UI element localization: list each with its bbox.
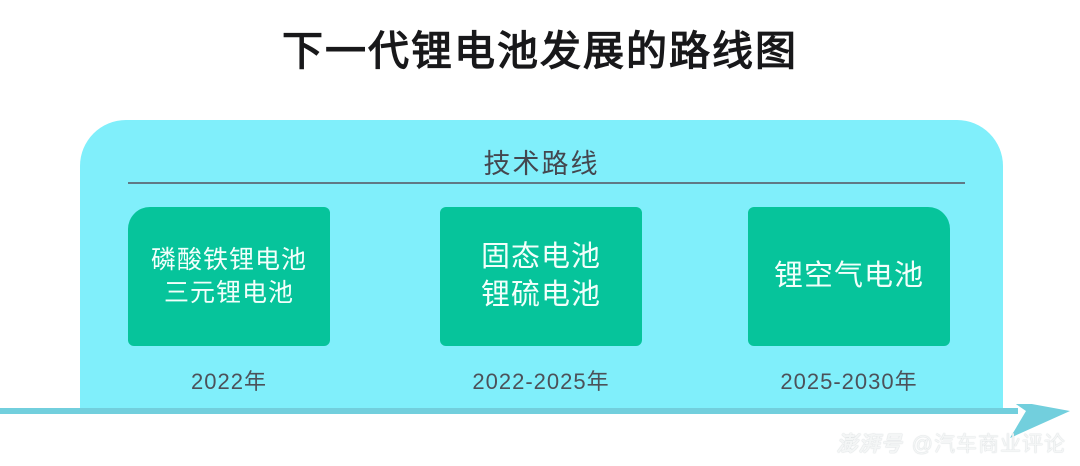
infographic-root: 下一代锂电池发展的路线图 技术路线 磷酸铁锂电池 三元锂电池 2022年 固态电… xyxy=(0,0,1080,466)
stage-label-line-2: 三元锂电池 xyxy=(164,277,294,310)
panel-heading: 技术路线 xyxy=(80,142,1003,181)
stage-label-line-2: 锂硫电池 xyxy=(481,277,601,315)
stage-period-3: 2025-2030年 xyxy=(748,364,950,396)
stage-row: 磷酸铁锂电池 三元锂电池 2022年 固态电池 锂硫电池 2022-2025年 … xyxy=(80,207,1003,407)
stage-period-2: 2022-2025年 xyxy=(440,364,642,396)
stage-box-1[interactable]: 磷酸铁锂电池 三元锂电池 xyxy=(128,207,330,346)
heading-divider xyxy=(128,182,965,184)
page-title: 下一代锂电池发展的路线图 xyxy=(0,26,1080,77)
stage-item-3: 锂空气电池 2025-2030年 xyxy=(748,207,950,396)
stage-label-line-1: 固态电池 xyxy=(481,239,601,277)
stage-box-2[interactable]: 固态电池 锂硫电池 xyxy=(440,207,642,346)
watermark-account: @汽车商业评论 xyxy=(912,428,1066,458)
stage-box-3[interactable]: 锂空气电池 xyxy=(748,207,950,346)
stage-item-1: 磷酸铁锂电池 三元锂电池 2022年 xyxy=(128,207,330,396)
stage-label-line-1: 磷酸铁锂电池 xyxy=(151,244,307,277)
stage-label-line-1: 锂空气电池 xyxy=(774,258,924,296)
technology-roadmap-panel: 技术路线 磷酸铁锂电池 三元锂电池 2022年 固态电池 锂硫电池 2022-2… xyxy=(80,120,1003,412)
watermark: 澎湃号 @汽车商业评论 xyxy=(837,428,1066,458)
watermark-brand: 澎湃号 xyxy=(837,428,903,458)
stage-item-2: 固态电池 锂硫电池 2022-2025年 xyxy=(440,207,642,396)
stage-period-1: 2022年 xyxy=(128,364,330,396)
